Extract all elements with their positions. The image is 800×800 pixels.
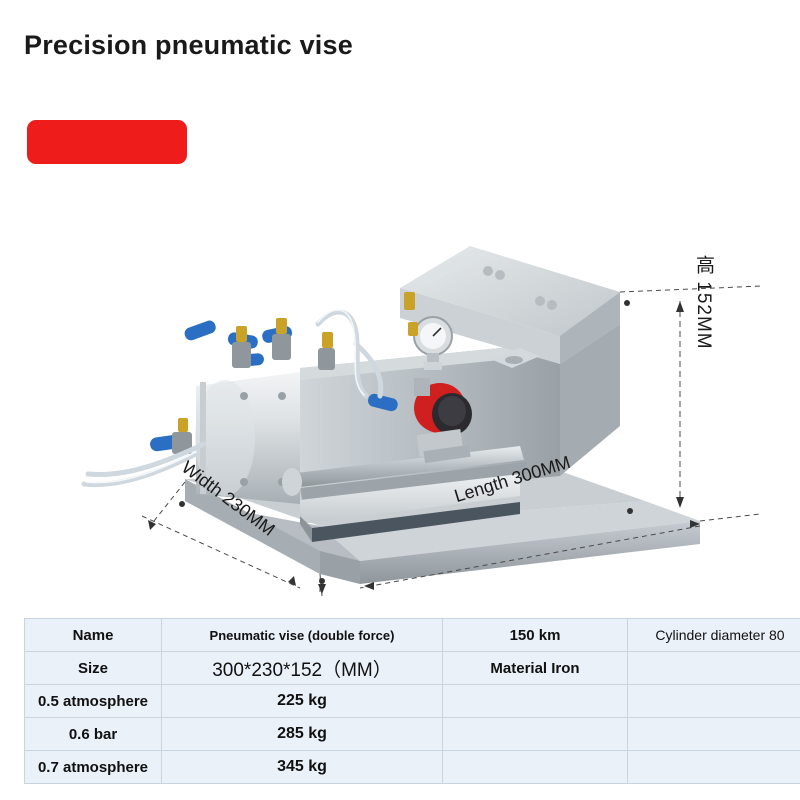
table-row: Name Pneumatic vise (double force) 150 k… (25, 619, 800, 652)
row-label: Size (25, 652, 162, 685)
row-third (443, 751, 628, 784)
row-fourth (628, 718, 800, 751)
row-label: 0.7 atmosphere (25, 751, 162, 784)
row-fourth (628, 751, 800, 784)
row-value: Pneumatic vise (double force) (162, 619, 443, 652)
row-fourth (628, 685, 800, 718)
row-value: 285 kg (162, 718, 443, 751)
table-row: Size 300*230*152（MM） Material Iron (25, 652, 800, 685)
row-value: 225 kg (162, 685, 443, 718)
row-value: 345 kg (162, 751, 443, 784)
table-row: 0.5 atmosphere 225 kg (25, 685, 800, 718)
page-title: Precision pneumatic vise (24, 30, 353, 61)
table-row: 0.7 atmosphere 345 kg (25, 751, 800, 784)
page-root: Precision pneumatic vise (0, 0, 800, 800)
row-third: Material Iron (443, 652, 628, 685)
row-third: 150 km (443, 619, 628, 652)
dimension-height-label: 高 152MM (690, 255, 717, 350)
spec-table: Name Pneumatic vise (double force) 150 k… (24, 618, 800, 784)
row-fourth (628, 652, 800, 685)
row-third (443, 718, 628, 751)
row-value: 300*230*152（MM） (162, 652, 443, 685)
table-row: 0.6 bar 285 kg (25, 718, 800, 751)
row-fourth: Cylinder diameter 80 (628, 619, 800, 652)
row-label: Name (25, 619, 162, 652)
product-photo (0, 96, 800, 596)
row-label: 0.5 atmosphere (25, 685, 162, 718)
row-third (443, 685, 628, 718)
row-label: 0.6 bar (25, 718, 162, 751)
